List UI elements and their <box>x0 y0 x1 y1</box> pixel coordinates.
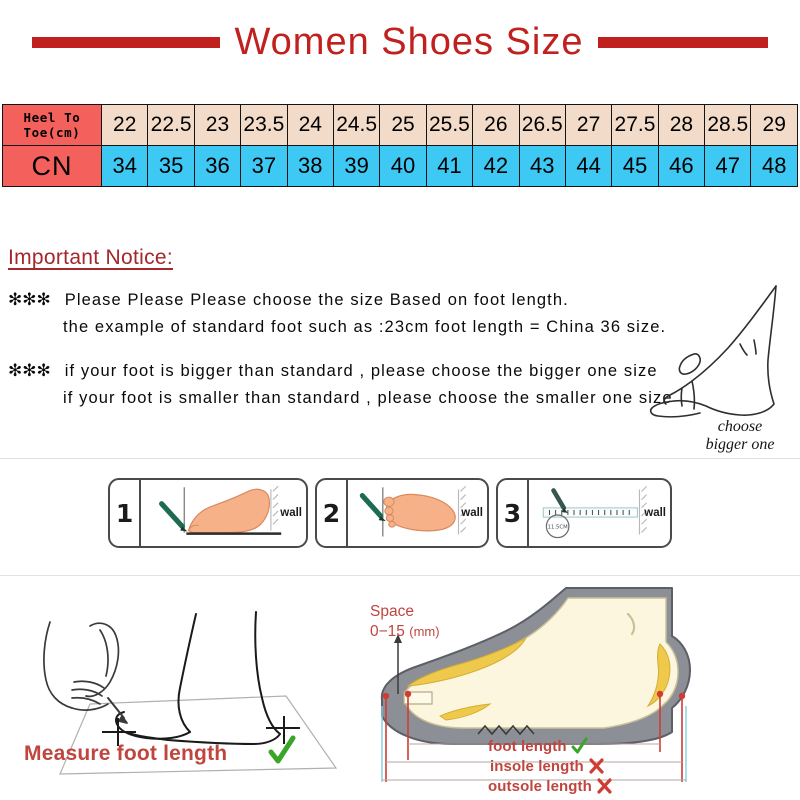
step-panel-3: 3 11.5CM <box>496 478 672 548</box>
table-row-cn: CN 34 35 36 37 38 39 40 41 42 43 44 45 4… <box>3 146 798 187</box>
step-panel-2: 2 <box>315 478 489 548</box>
cell-cm: 27.5 <box>612 105 658 146</box>
wall-label: wall <box>280 507 302 519</box>
cell-cm: 24 <box>287 105 333 146</box>
step-panel-1: 1 wall <box>108 478 308 548</box>
cell-cm: 25 <box>380 105 426 146</box>
space-label-line1: Space <box>370 602 440 622</box>
cell-cn: 43 <box>519 146 565 187</box>
cell-cn: 46 <box>658 146 704 187</box>
table-row-heel-to-toe: Heel To Toe(cm) 22 22.5 23 23.5 24 24.5 … <box>3 105 798 146</box>
space-value: 0−15 <box>370 623 405 640</box>
page-title: Women Shoes Size <box>220 23 597 61</box>
cell-cn: 39 <box>333 146 379 187</box>
length-label: foot length <box>488 738 567 755</box>
foot-side-view-icon <box>648 282 794 432</box>
red-x-icon <box>596 777 613 795</box>
cell-cn: 37 <box>241 146 287 187</box>
cell-cm: 24.5 <box>333 105 379 146</box>
choose-bigger-line1: choose <box>680 418 800 436</box>
wall-label: wall <box>461 507 483 519</box>
cell-cm: 25.5 <box>426 105 472 146</box>
cell-cn: 42 <box>473 146 519 187</box>
title-rule-right-icon <box>598 37 768 48</box>
step-number: 1 <box>110 480 141 546</box>
cell-cm: 22.5 <box>148 105 194 146</box>
cell-cn: 36 <box>194 146 240 187</box>
cell-cn: 45 <box>612 146 658 187</box>
step-illustration-2: wall <box>348 480 487 546</box>
cell-cm: 28.5 <box>705 105 751 146</box>
size-conversion-table: Heel To Toe(cm) 22 22.5 23 23.5 24 24.5 … <box>2 104 798 187</box>
step-illustration-1: wall <box>141 480 306 546</box>
cell-cm: 26 <box>473 105 519 146</box>
choose-bigger-line2: bigger one <box>680 436 800 454</box>
cell-cn: 47 <box>705 146 751 187</box>
length-row-insole: insole length <box>488 756 748 776</box>
red-x-icon <box>588 757 605 775</box>
green-check-icon <box>571 737 588 755</box>
wall-label: wall <box>644 507 666 519</box>
cell-cm: 27 <box>565 105 611 146</box>
cell-cm: 23.5 <box>241 105 287 146</box>
cell-cn: 44 <box>565 146 611 187</box>
step-number: 2 <box>317 480 348 546</box>
cell-cn: 38 <box>287 146 333 187</box>
row-header-cn: CN <box>3 146 102 187</box>
space-label-line2: 0−15 (mm) <box>370 622 440 642</box>
cell-cm: 29 <box>751 105 798 146</box>
choose-bigger-caption: choose bigger one <box>680 418 800 455</box>
measuring-steps: 1 wall <box>108 478 672 548</box>
green-check-icon <box>268 735 296 767</box>
ruler-reading: 11.5CM <box>547 524 567 530</box>
cell-cn: 40 <box>380 146 426 187</box>
space-label: Space 0−15 (mm) <box>370 602 440 642</box>
cell-cn: 35 <box>148 146 194 187</box>
section-divider <box>0 458 800 459</box>
cell-cm: 28 <box>658 105 704 146</box>
page-title-bar: Women Shoes Size <box>0 14 800 70</box>
title-rule-left-icon <box>32 37 220 48</box>
cell-cm: 23 <box>194 105 240 146</box>
notice-heading: Important Notice: <box>8 246 792 270</box>
cell-cm: 22 <box>102 105 148 146</box>
length-label-group: foot length insole length outsole length <box>488 736 748 796</box>
row-header-heel-to-toe: Heel To Toe(cm) <box>3 105 102 146</box>
notice-text: Please Please Please choose the size Bas… <box>65 291 569 309</box>
step-number: 3 <box>498 480 529 546</box>
section-divider <box>0 575 800 576</box>
step-illustration-3: 11.5CM wall <box>529 480 670 546</box>
length-label: outsole length <box>488 778 592 795</box>
length-row-outsole: outsole length <box>488 776 748 796</box>
measure-foot-length-caption: Measure foot length <box>24 742 227 766</box>
cell-cm: 26.5 <box>519 105 565 146</box>
asterisk-bullet-icon: ✻✻✻ <box>8 361 51 380</box>
cell-cn: 34 <box>102 146 148 187</box>
length-row-foot: foot length <box>488 736 748 756</box>
cell-cn: 48 <box>751 146 798 187</box>
cell-cn: 41 <box>426 146 472 187</box>
space-unit: (mm) <box>409 624 439 639</box>
asterisk-bullet-icon: ✻✻✻ <box>8 290 51 309</box>
notice-text: if your foot is bigger than standard , p… <box>65 362 658 380</box>
length-label: insole length <box>490 758 584 775</box>
